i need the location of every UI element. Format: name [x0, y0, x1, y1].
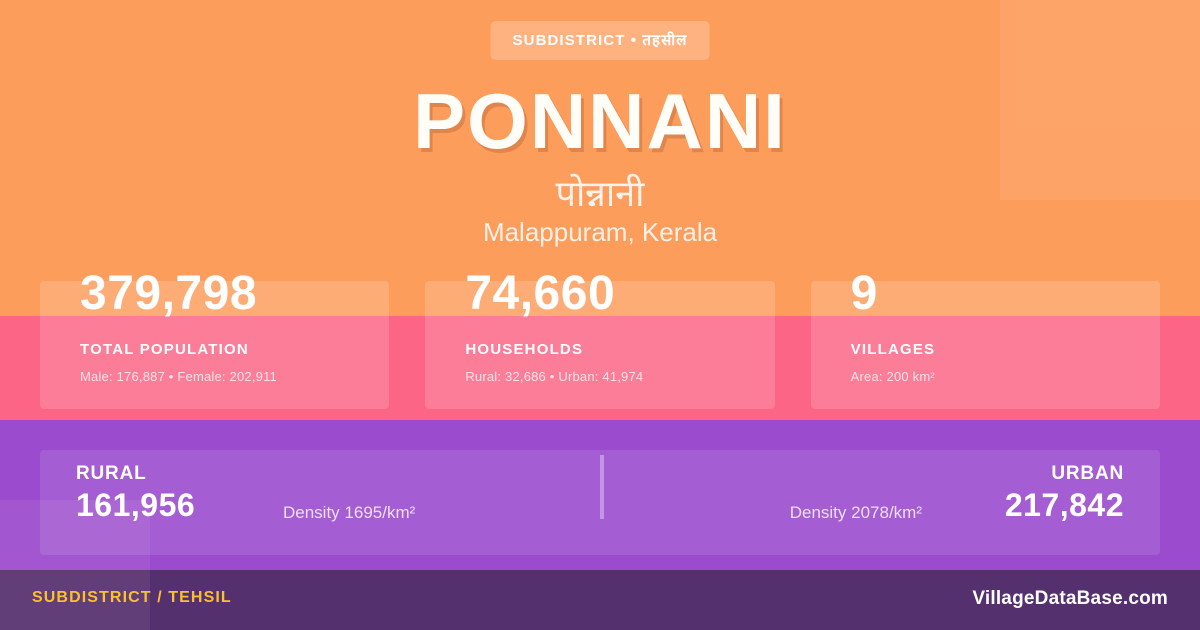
stat-label: HOUSEHOLDS [465, 341, 583, 358]
urban-block: URBAN 217,842 [1005, 463, 1124, 525]
status-badge: SUBDISTRICT • तहसील [491, 21, 710, 60]
stat-card-villages: 9 VILLAGES Area: 200 km² [811, 281, 1160, 409]
footer-site-name: VillageDataBase.com [972, 588, 1168, 610]
rural-block: RURAL 161,956 [76, 463, 195, 525]
rural-value: 161,956 [76, 485, 195, 525]
rural-density: Density 1695/km² [283, 503, 415, 523]
stat-sublabel: Rural: 32,686 • Urban: 41,974 [465, 369, 643, 384]
stat-label: TOTAL POPULATION [80, 341, 249, 358]
urban-value: 217,842 [1005, 485, 1124, 525]
rural-urban-divider [600, 455, 604, 519]
page-title: PONNANI [0, 82, 1200, 160]
page-title-native: पोन्नानी [0, 172, 1200, 215]
stat-sublabel: Area: 200 km² [851, 369, 935, 384]
village-info-card: SUBDISTRICT • तहसील PONNANI पोन्नानी Mal… [0, 0, 1200, 630]
urban-density: Density 2078/km² [790, 503, 922, 523]
stat-value: 379,798 [80, 270, 257, 318]
page-subtitle-region: Malappuram, Kerala [0, 216, 1200, 250]
stat-card-total-population: 379,798 TOTAL POPULATION Male: 176,887 •… [40, 281, 389, 409]
stat-sublabel: Male: 176,887 • Female: 202,911 [80, 369, 277, 384]
footer-category-label: SUBDISTRICT / TEHSIL [32, 589, 232, 607]
stat-card-households: 74,660 HOUSEHOLDS Rural: 32,686 • Urban:… [425, 281, 774, 409]
stat-value: 9 [851, 270, 878, 318]
rural-title: RURAL [76, 463, 195, 485]
stat-card-group: 379,798 TOTAL POPULATION Male: 176,887 •… [40, 281, 1160, 409]
urban-title: URBAN [1005, 463, 1124, 485]
stat-value: 74,660 [465, 270, 615, 318]
stat-label: VILLAGES [851, 341, 936, 358]
rural-urban-panel: RURAL 161,956 Density 1695/km² Density 2… [40, 450, 1160, 555]
